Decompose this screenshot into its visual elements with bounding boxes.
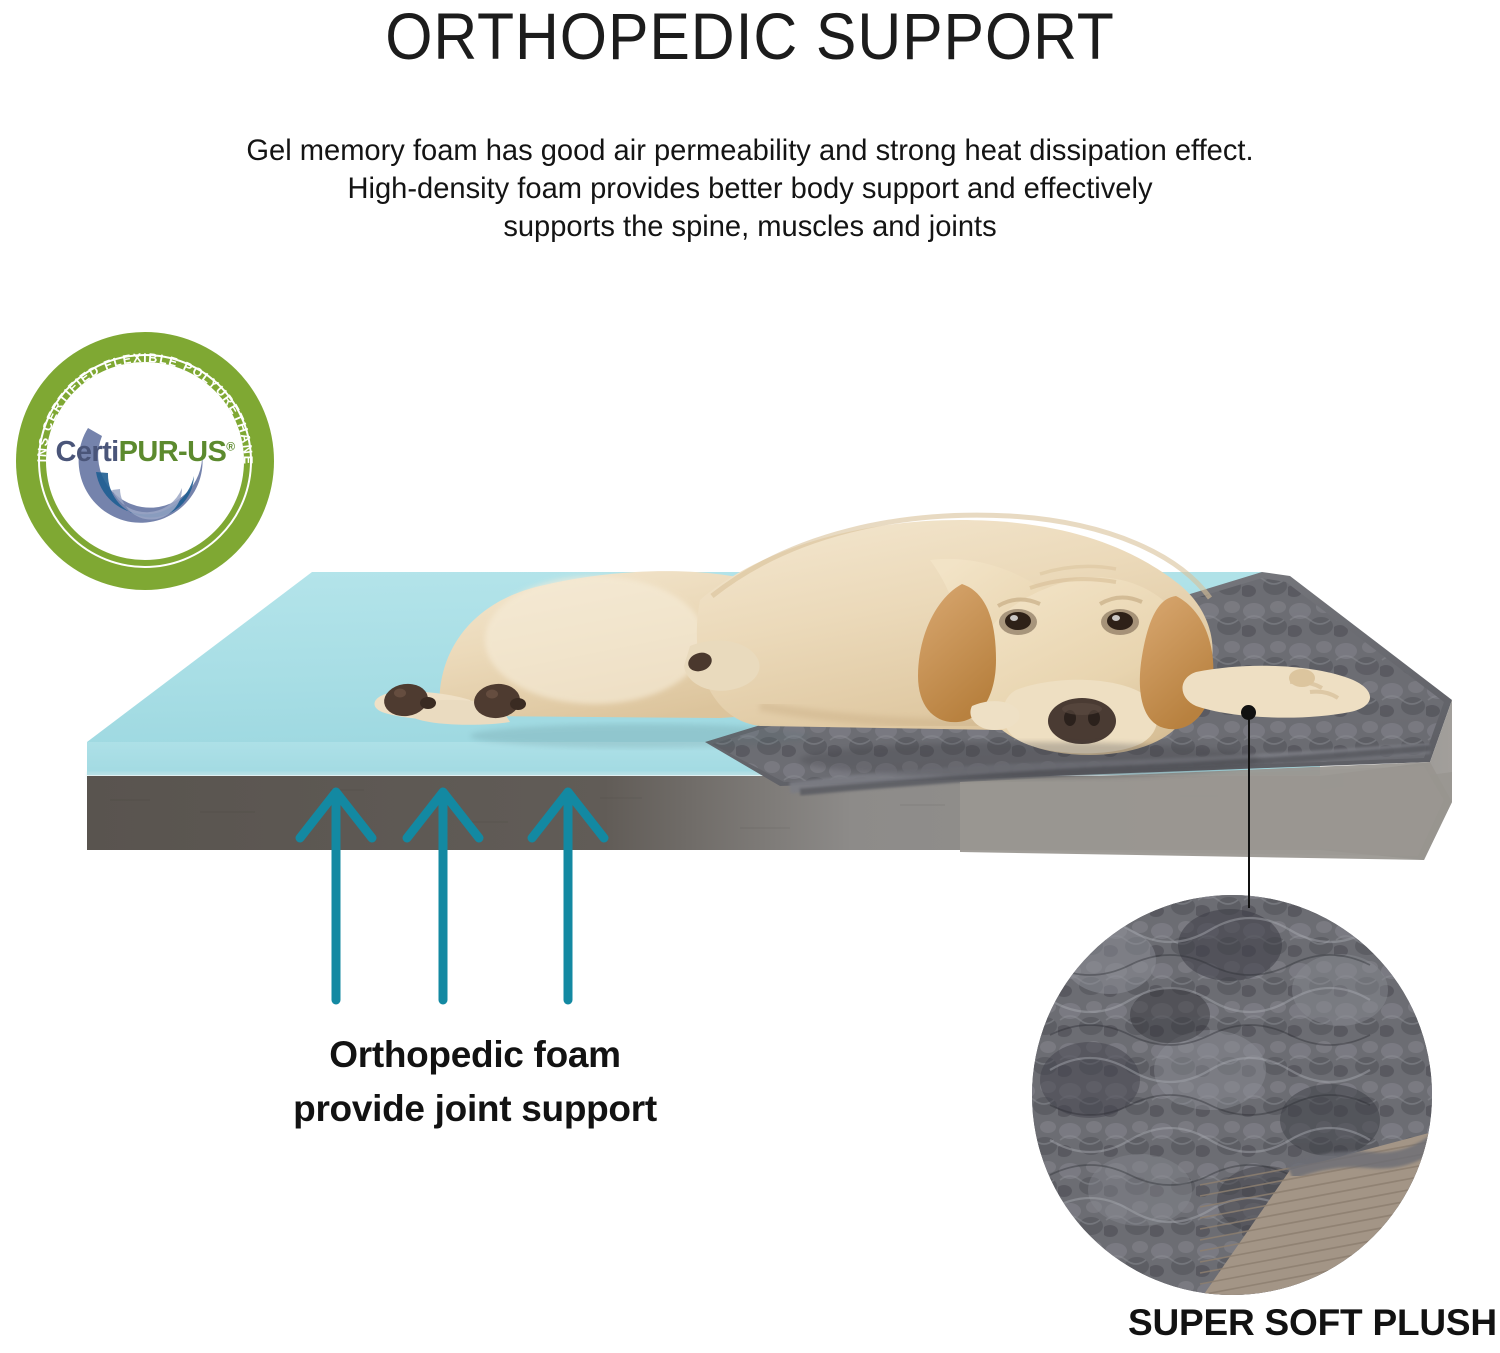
orthopedic-foam-caption-line2: provide joint support: [230, 1082, 720, 1136]
force-arrow-1: [300, 792, 372, 1000]
plush-closeup-inset: [1032, 895, 1442, 1300]
force-arrow-2: [407, 792, 479, 1000]
callout-line: [1248, 712, 1250, 908]
product-infographic: ORTHOPEDIC SUPPORT Gel memory foam has g…: [0, 0, 1500, 1353]
force-arrow-3: [532, 792, 604, 1000]
orthopedic-foam-caption-line1: Orthopedic foam: [230, 1028, 720, 1082]
dog-bed-illustration: [0, 0, 1500, 1353]
super-soft-plush-caption: SUPER SOFT PLUSH: [1020, 1302, 1500, 1344]
orthopedic-foam-caption: Orthopedic foam provide joint support: [230, 1028, 720, 1136]
